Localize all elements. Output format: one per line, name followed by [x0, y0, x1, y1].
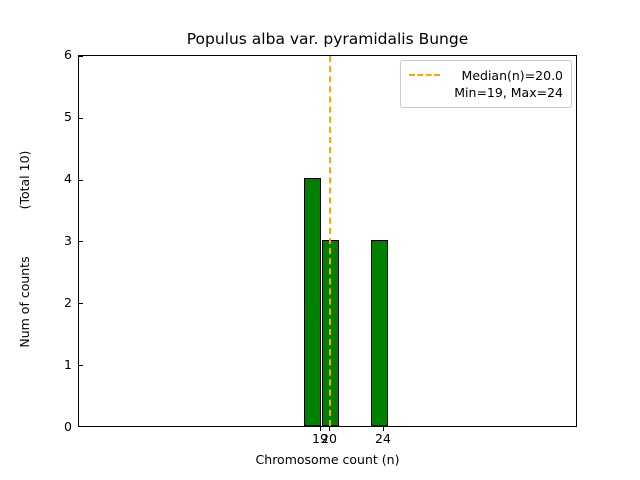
legend-entry-median: Median(n)=20.0	[449, 67, 563, 84]
median-line	[329, 56, 331, 426]
plot-inner	[79, 56, 576, 426]
ytick-label-0: 0	[50, 420, 72, 433]
ytick-mark-3	[79, 241, 83, 242]
legend-row: Median(n)=20.0 Min=19, Max=24	[409, 67, 563, 101]
ytick-label-1: 1	[50, 358, 72, 371]
xtick-mark-20	[329, 427, 330, 431]
chart-title: Populus alba var. pyramidalis Bunge	[78, 30, 577, 48]
ytick-label-4: 4	[50, 172, 72, 185]
ytick-label-6: 6	[50, 48, 72, 61]
ytick-label-5: 5	[50, 110, 72, 123]
y-axis-total-label: (Total 10)	[18, 120, 32, 240]
ytick-label-3: 3	[50, 234, 72, 247]
xtick-mark-24	[383, 427, 384, 431]
ytick-mark-1	[79, 365, 83, 366]
legend-texts: Median(n)=20.0 Min=19, Max=24	[449, 67, 563, 101]
ytick-mark-5	[79, 118, 83, 119]
legend-entry-minmax: Min=19, Max=24	[449, 84, 563, 101]
matplotlib-figure: Populus alba var. pyramidalis Bunge 0 1 …	[0, 0, 640, 480]
plot-area	[78, 55, 577, 427]
ytick-mark-4	[79, 180, 83, 181]
x-axis-label: Chromosome count (n)	[78, 452, 577, 467]
ytick-mark-2	[79, 303, 83, 304]
median-dashed-line-icon	[409, 74, 440, 76]
xtick-label-24: 24	[368, 432, 398, 446]
xtick-mark-19	[320, 427, 321, 431]
legend[interactable]: Median(n)=20.0 Min=19, Max=24	[400, 60, 572, 108]
ytick-mark-6	[79, 56, 83, 57]
bar-19[interactable]	[304, 178, 321, 426]
bar-24[interactable]	[371, 240, 388, 426]
xtick-label-20: 20	[314, 432, 344, 446]
ytick-label-2: 2	[50, 296, 72, 309]
